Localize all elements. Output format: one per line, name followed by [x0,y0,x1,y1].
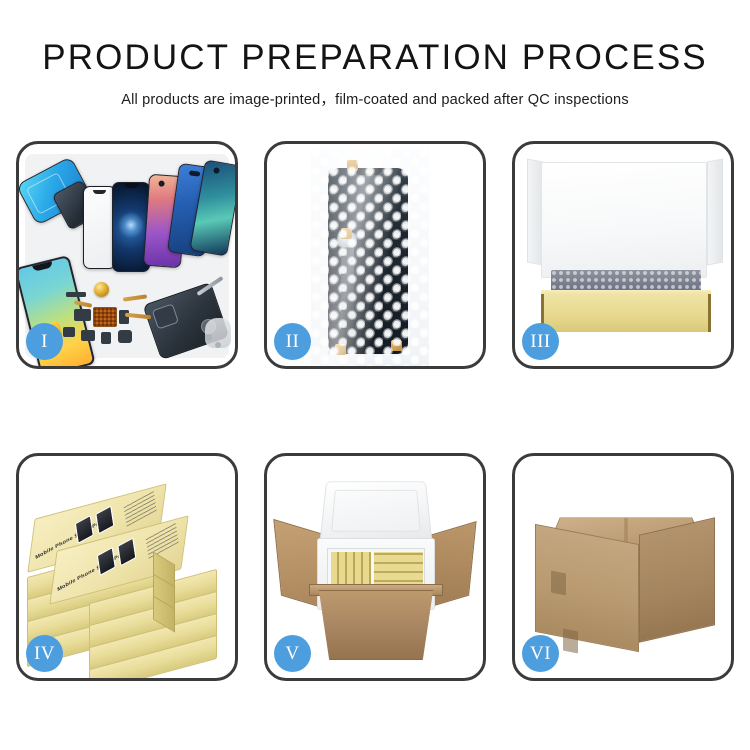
process-step-panel-3: III [512,141,734,369]
screw-b-icon [215,342,221,348]
sim-tray-icon [63,327,75,337]
step-badge-5: V [274,635,311,672]
earpiece-mesh-icon [66,292,86,297]
box-spec-lines-lower [146,522,179,559]
box-lid-right-flap-icon [707,158,723,265]
box-window-upper-a [75,515,94,544]
box-window-lower-b [117,537,136,566]
box-base-edges [541,294,711,332]
bag-sheen [311,148,429,366]
process-step-panel-5: V [264,453,486,681]
page-subtitle: All products are image-printed，film-coat… [0,88,750,109]
step-numeral-2: II [286,332,300,351]
step-badge-1: I [26,323,63,360]
header: PRODUCT PREPARATION PROCESS All products… [0,40,750,109]
process-step-grid: I II [16,141,734,681]
speaker-module-icon [94,282,109,297]
step-numeral-4: IV [34,644,55,663]
process-step-panel-4: Mobile Phone Spare Parts Mobile Phone Sp… [16,453,238,681]
box-lid-icon [541,162,707,278]
step-badge-2: II [274,323,311,360]
box-window-upper-b [95,505,114,534]
screw-a-icon [205,334,212,341]
vibration-motor-icon [118,330,132,343]
process-step-panel-1: I [16,141,238,369]
product-preparation-infographic: PRODUCT PREPARATION PROCESS All products… [0,0,750,750]
step-numeral-6: VI [530,644,551,663]
process-step-panel-2: II [264,141,486,369]
button-flex-icon [101,332,111,344]
step-badge-3: III [522,323,559,360]
box-stack-icon: Mobile Phone Spare Parts Mobile Phone Sp… [27,482,231,667]
process-step-panel-6: VI [512,453,734,681]
page-title: PRODUCT PREPARATION PROCESS [0,40,750,77]
camera-bracket-icon [74,309,91,321]
step-numeral-1: I [41,332,48,351]
step-badge-4: IV [26,635,63,672]
step-numeral-5: V [285,644,299,663]
bracket-small-icon [81,330,95,341]
step-badge-6: VI [522,635,559,672]
box-spec-lines-upper [124,490,157,527]
foam-cooler-lid-icon [320,481,433,542]
packing-tape-upper-icon [551,571,566,596]
carton-side-face [639,517,715,643]
sealed-carton-icon [529,486,719,651]
step-numeral-3: III [530,332,550,351]
carton-front-wall-icon [311,590,441,660]
packing-tape-lower-icon [563,629,578,654]
bubble-wrap-bag-icon [311,148,429,366]
box-window-lower-a [97,547,116,576]
logic-board-icon [93,307,117,327]
